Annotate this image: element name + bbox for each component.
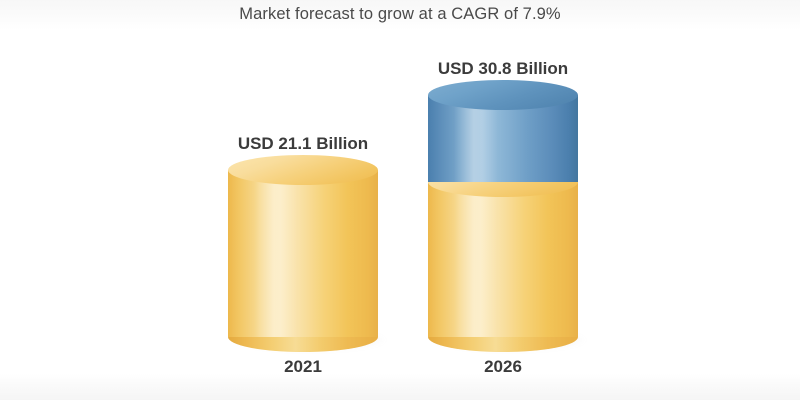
year-label-2026: 2026 — [428, 357, 578, 377]
cylinder-body-base-2026 — [428, 182, 578, 337]
value-label-2021: USD 21.1 Billion — [188, 134, 418, 154]
cylinder-segment-base-2021 — [228, 170, 378, 337]
cylinder-gloss-2021 — [254, 170, 298, 337]
cylinder-top-cap-2021 — [228, 155, 378, 185]
year-label-2021: 2021 — [228, 357, 378, 377]
cylinder-top-cap-2026 — [428, 80, 578, 110]
chart-container: Market forecast to grow at a CAGR of 7.9… — [0, 0, 800, 400]
plot-area: USD 21.1 Billion 2021 USD 30.8 Billion — [0, 0, 800, 400]
cylinder-segment-growth-2026 — [428, 95, 578, 182]
cylinder-gloss-base-2026 — [454, 182, 498, 337]
value-label-2026: USD 30.8 Billion — [388, 59, 618, 79]
cylinder-body-2021 — [228, 170, 378, 337]
cylinder-segment-base-2026 — [428, 182, 578, 337]
